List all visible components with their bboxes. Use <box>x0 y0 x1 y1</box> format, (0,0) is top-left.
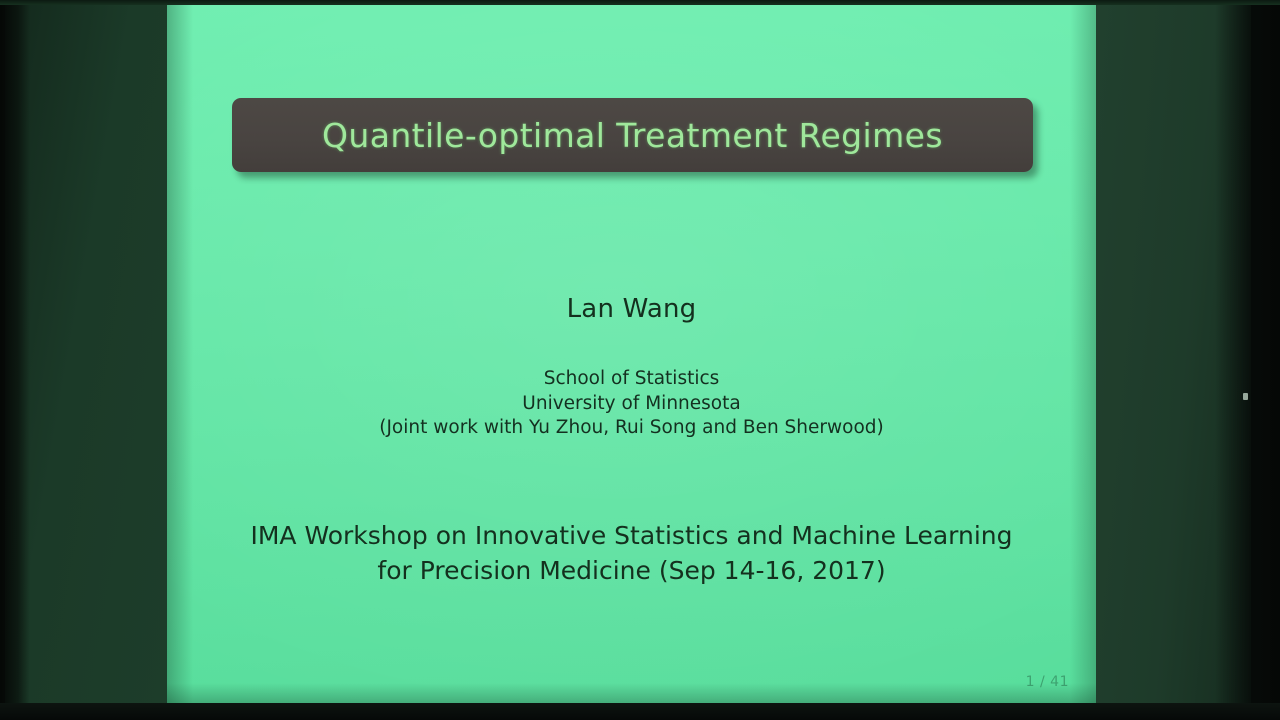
venue-block: IMA Workshop on Innovative Statistics an… <box>167 518 1096 588</box>
affiliation-block: School of Statistics University of Minne… <box>167 367 1096 441</box>
frame-top-strip <box>0 0 1280 5</box>
venue-line-2: for Precision Medicine (Sep 14-16, 2017) <box>167 553 1096 588</box>
wall-left-vignette <box>0 0 30 706</box>
affiliation-line-coauthors: (Joint work with Yu Zhou, Rui Song and B… <box>167 416 1096 441</box>
venue-line-1: IMA Workshop on Innovative Statistics an… <box>167 518 1096 553</box>
author-name: Lan Wang <box>167 294 1096 324</box>
page-number: 1 / 41 <box>1026 674 1069 690</box>
wall-right-vignette <box>1215 0 1280 706</box>
projected-slide: Quantile-optimal Treatment Regimes Lan W… <box>167 5 1096 703</box>
light-speck-artifact <box>1243 393 1248 400</box>
affiliation-line-university: University of Minnesota <box>167 392 1096 417</box>
projector-photo-frame: Quantile-optimal Treatment Regimes Lan W… <box>0 0 1280 720</box>
slide-body: Lan Wang School of Statistics University… <box>167 5 1096 703</box>
affiliation-line-school: School of Statistics <box>167 367 1096 392</box>
frame-bottom-strip <box>0 703 1280 720</box>
